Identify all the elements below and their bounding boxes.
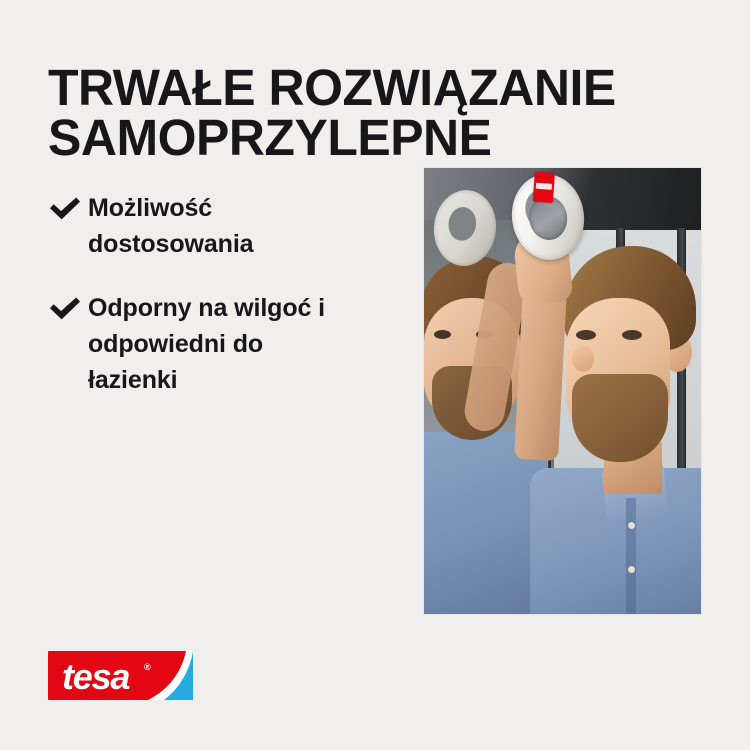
shirt-button (628, 522, 635, 529)
promo-canvas: TRWAŁE ROZWIĄZANIE SAMOPRZYLEPNE Możliwo… (0, 0, 750, 750)
shirt-placket (626, 498, 636, 614)
beard (572, 374, 668, 462)
brand-name: tesa (0, 0, 1, 1)
eye (622, 330, 642, 340)
reflection-eye (434, 330, 451, 339)
nose (572, 346, 594, 372)
tape-brand-label (533, 172, 555, 203)
check-icon (48, 290, 88, 322)
feature-text: Odporny na wilgoć i odpowiedni do łazien… (88, 290, 358, 398)
eye (576, 330, 596, 340)
photo-scene (424, 168, 701, 614)
headline-line-1: TRWAŁE ROZWIĄZANIE (48, 63, 636, 113)
man-main (552, 246, 701, 614)
product-photo (424, 168, 701, 614)
tesa-logo: tesa ® (48, 651, 193, 700)
svg-text:®: ® (144, 662, 151, 672)
feature-text: Możliwość dostosowania (88, 190, 358, 262)
feature-list: Możliwość dostosowania Odporny na wilgoć… (48, 190, 358, 426)
headline-line-2: SAMOPRZYLEPNE (48, 113, 636, 163)
page-title: TRWAŁE ROZWIĄZANIE SAMOPRZYLEPNE (48, 63, 636, 163)
check-icon (48, 190, 88, 222)
svg-text:tesa: tesa (62, 656, 129, 697)
list-item: Możliwość dostosowania (48, 190, 358, 262)
shirt-button (628, 566, 635, 573)
list-item: Odporny na wilgoć i odpowiedni do łazien… (48, 290, 358, 398)
photo-alt-text: Mężczyzna trzymający rolkę taśmy tesa pr… (0, 0, 1, 1)
